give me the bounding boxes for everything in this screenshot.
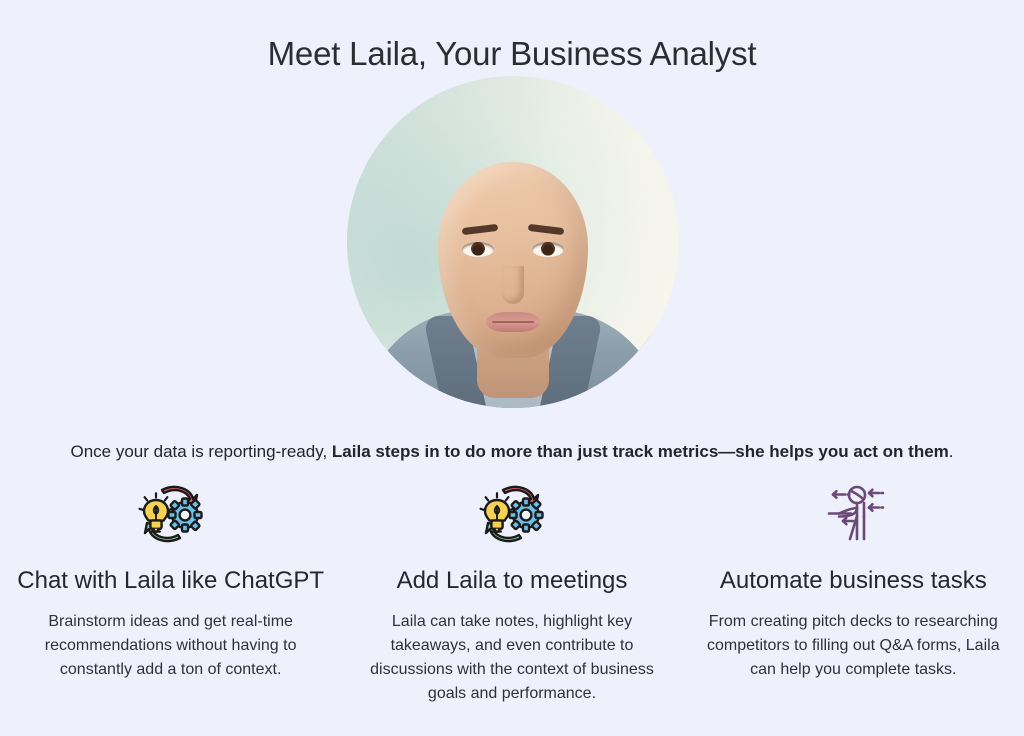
subtitle-emphasis: Laila steps in to do more than just trac… bbox=[332, 442, 949, 461]
avatar-face bbox=[438, 162, 588, 358]
avatar-brow-left bbox=[462, 224, 499, 235]
feature-title: Chat with Laila like ChatGPT bbox=[17, 566, 324, 596]
lightbulb-gear-cycle-icon bbox=[476, 478, 548, 550]
lightbulb-gear-cycle-icon bbox=[135, 478, 207, 550]
avatar bbox=[347, 76, 679, 408]
feature-title: Automate business tasks bbox=[720, 566, 987, 596]
subtitle-tail: . bbox=[949, 442, 954, 461]
avatar-eye-left bbox=[462, 242, 494, 257]
avatar-mouth bbox=[486, 312, 540, 332]
subtitle-lead: Once your data is reporting-ready, bbox=[70, 442, 331, 461]
feature-title: Add Laila to meetings bbox=[397, 566, 628, 596]
feature-description: From creating pitch decks to researching… bbox=[703, 610, 1003, 682]
avatar-nose bbox=[502, 266, 524, 304]
page-title: Meet Laila, Your Business Analyst bbox=[0, 34, 1024, 74]
feature-description: Laila can take notes, highlight key take… bbox=[364, 610, 660, 706]
person-automation-arrows-icon bbox=[817, 478, 889, 550]
subtitle: Once your data is reporting-ready, Laila… bbox=[0, 440, 1024, 464]
feature-list: Chat with Laila like ChatGPT Brainstorm … bbox=[0, 478, 1024, 706]
feature-description: Brainstorm ideas and get real-time recom… bbox=[23, 610, 319, 682]
avatar-brow-right bbox=[528, 224, 565, 235]
feature-card-meetings: Add Laila to meetings Laila can take not… bbox=[341, 478, 682, 706]
page-root: Meet Laila, Your Business Analyst bbox=[0, 0, 1024, 736]
feature-card-chat: Chat with Laila like ChatGPT Brainstorm … bbox=[0, 478, 341, 706]
avatar-eye-right bbox=[532, 242, 564, 257]
feature-card-automate: Automate business tasks From creating pi… bbox=[683, 478, 1024, 706]
